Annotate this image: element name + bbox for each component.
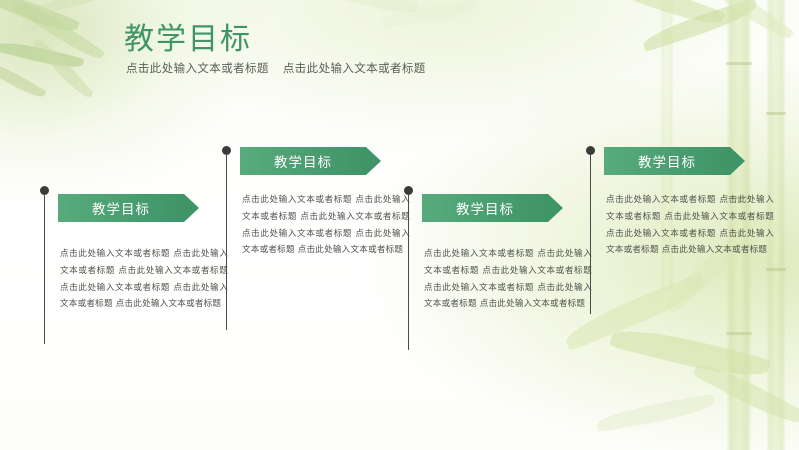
column-banner-1[interactable]: 教学目标 (58, 194, 184, 222)
column-vertical-rule (590, 154, 591, 314)
bamboo-leaf-icon (0, 58, 47, 101)
bamboo-leaf-icon (696, 0, 794, 45)
subtitle-part-1: 点击此处输入文本或者标题 (126, 61, 269, 75)
column-body-4[interactable]: 点击此处输入文本或者标题 点击此处输入文本或者标题 点击此处输入文本或者标题 点… (606, 192, 774, 259)
bamboo-leaf-icon (692, 357, 799, 431)
column-banner-3[interactable]: 教学目标 (422, 194, 548, 222)
subtitle-part-2: 点击此处输入文本或者标题 (283, 61, 426, 75)
page-subtitle: 点击此处输入文本或者标题 点击此处输入文本或者标题 (126, 60, 436, 76)
column-banner-4[interactable]: 教学目标 (604, 147, 730, 175)
bamboo-node-icon (726, 62, 752, 65)
bamboo-leaf-icon (300, 0, 420, 20)
bamboo-leaf-icon (596, 0, 725, 32)
bamboo-leaf-icon (0, 0, 80, 38)
column-vertical-rule (408, 194, 409, 350)
column-body-2[interactable]: 点击此处输入文本或者标题 点击此处输入文本或者标题 点击此处输入文本或者标题 点… (242, 192, 410, 259)
bamboo-node-icon (766, 112, 786, 115)
column-body-1[interactable]: 点击此处输入文本或者标题 点击此处输入文本或者标题 点击此处输入文本或者标题 点… (60, 246, 228, 313)
bamboo-node-icon (766, 268, 786, 271)
bamboo-node-icon (726, 332, 752, 335)
column-vertical-rule (44, 194, 45, 344)
bamboo-leaf-icon (0, 38, 84, 73)
column-vertical-rule (226, 154, 227, 330)
bamboo-leaf-icon (595, 394, 716, 433)
column-banner-2[interactable]: 教学目标 (240, 147, 366, 175)
bamboo-leaf-icon (11, 0, 106, 65)
bamboo-leaf-icon (40, 0, 111, 13)
bamboo-leaf-icon (640, 0, 760, 52)
bamboo-leaf-icon (32, 35, 94, 102)
slide-canvas: 教学目标 点击此处输入文本或者标题 点击此处输入文本或者标题 教学目标 点击此处… (0, 0, 799, 450)
column-body-3[interactable]: 点击此处输入文本或者标题 点击此处输入文本或者标题 点击此处输入文本或者标题 点… (424, 246, 592, 313)
bamboo-leaf-icon (609, 321, 771, 385)
page-title: 教学目标 (124, 14, 252, 58)
bamboo-leaf-icon (379, 0, 480, 28)
